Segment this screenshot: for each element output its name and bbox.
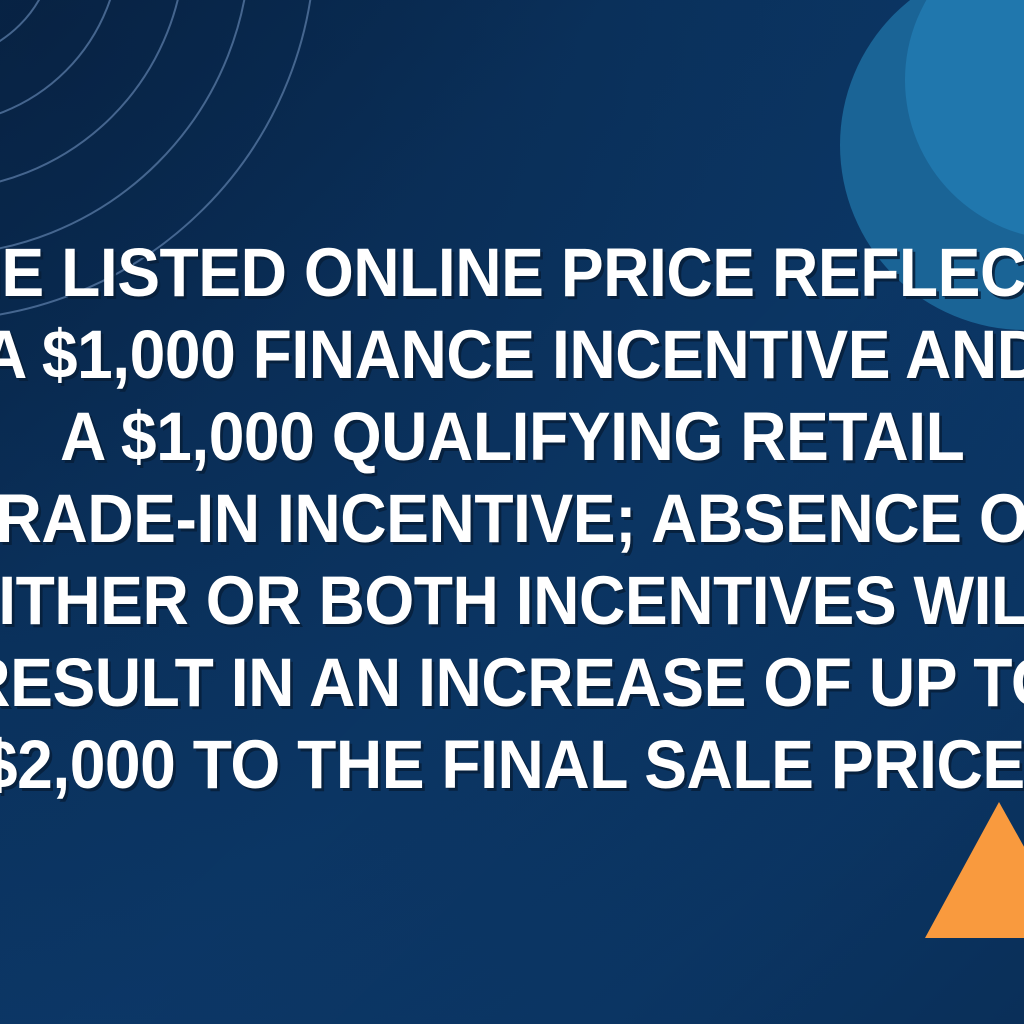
disclaimer-line-6: RESULT IN AN INCREASE OF UP TO <box>0 642 1024 724</box>
disclaimer-line-5: EITHER OR BOTH INCENTIVES WILL <box>0 560 1024 642</box>
disclaimer-line-7: $2,000 TO THE FINAL SALE PRICE. <box>0 724 1024 806</box>
promo-disclaimer-graphic: THE LISTED ONLINE PRICE REFLECTS A $1,00… <box>0 0 1024 1024</box>
disclaimer-line-1: THE LISTED ONLINE PRICE REFLECTS <box>0 232 1024 314</box>
disclaimer-line-4: TRADE-IN INCENTIVE; ABSENCE OF <box>0 478 1024 560</box>
disclaimer-text-block: THE LISTED ONLINE PRICE REFLECTS A $1,00… <box>0 0 1024 1024</box>
disclaimer-line-2: A $1,000 FINANCE INCENTIVE AND <box>0 314 1024 396</box>
disclaimer-line-3: A $1,000 QUALIFYING RETAIL <box>60 396 964 478</box>
